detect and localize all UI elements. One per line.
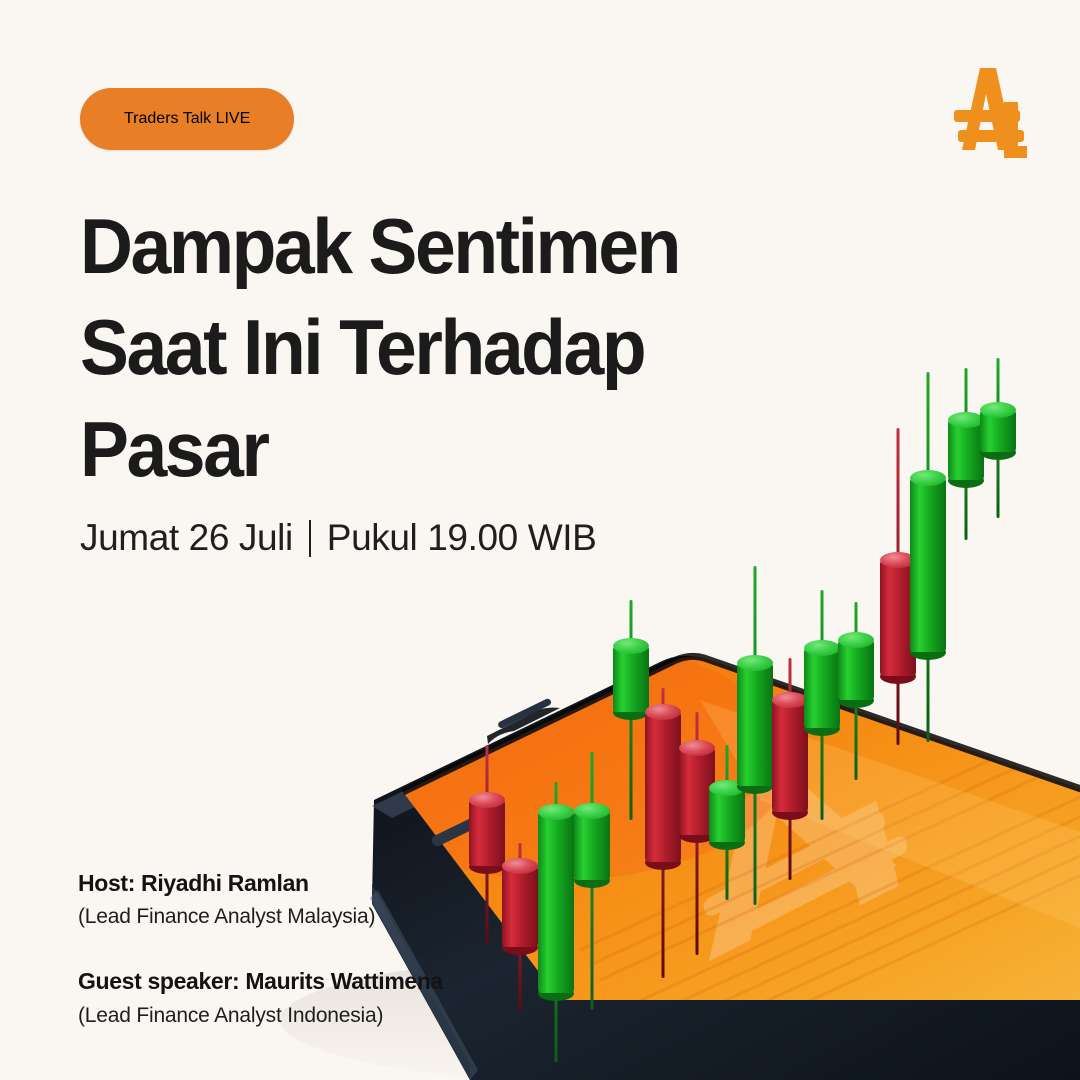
- headline-line-2: Saat Ini Terhadap: [80, 297, 794, 398]
- candlestick-body: [613, 646, 649, 712]
- candlestick-body: [645, 712, 681, 862]
- event-schedule: Jumat 26 Juli Pukul 19.00 WIB: [80, 517, 596, 559]
- guest-credit: Guest speaker: Maurits Wattimena (Lead F…: [78, 966, 598, 1030]
- candlestick-14: [910, 372, 946, 742]
- speaker-credits: Host: Riyadhi Ramlan (Lead Finance Analy…: [78, 868, 598, 1031]
- candlestick-12: [838, 602, 874, 780]
- candlestick-body: [948, 420, 984, 480]
- brand-a-monogram-icon: [928, 58, 1040, 168]
- host-name: Host: Riyadhi Ramlan: [78, 868, 598, 899]
- candlestick-16: [980, 358, 1016, 518]
- candlestick-body: [910, 478, 946, 652]
- headline-line-1: Dampak Sentimen: [80, 196, 794, 297]
- page-title: Dampak Sentimen Saat Ini Terhadap Pasar: [80, 196, 840, 500]
- candlestick-cap: [804, 640, 840, 656]
- candlestick-cap: [613, 638, 649, 654]
- candlestick-body: [737, 663, 773, 786]
- candlestick-9: [737, 566, 773, 905]
- host-role: (Lead Finance Analyst Malaysia): [78, 902, 598, 932]
- candlestick-15: [948, 368, 984, 540]
- candlestick-6: [645, 688, 681, 978]
- candlestick-body: [469, 800, 505, 866]
- candlestick-cap: [980, 402, 1016, 418]
- candlestick-11: [804, 590, 840, 820]
- event-time: Pukul 19.00 WIB: [327, 517, 597, 559]
- candlestick-cap: [910, 470, 946, 486]
- candlestick-cap: [737, 655, 773, 671]
- candlestick-body: [804, 648, 840, 728]
- candlestick-cap: [948, 412, 984, 428]
- candlestick-cap: [772, 692, 808, 708]
- headline-line-3: Pasar: [80, 399, 794, 500]
- host-credit: Host: Riyadhi Ramlan (Lead Finance Analy…: [78, 868, 598, 932]
- schedule-separator: [309, 520, 311, 557]
- candlestick-5: [613, 600, 649, 820]
- candlestick-cap: [838, 632, 874, 648]
- promo-poster: Traders Talk LIVE Dampak Sentimen Saat I…: [0, 0, 1080, 1080]
- guest-role: (Lead Finance Analyst Indonesia): [78, 1001, 598, 1031]
- candlestick-10: [772, 658, 808, 880]
- live-badge[interactable]: Traders Talk LIVE: [80, 88, 294, 150]
- candlestick-body: [772, 700, 808, 812]
- event-date: Jumat 26 Juli: [80, 517, 293, 559]
- candlestick-cap: [645, 704, 681, 720]
- live-badge-label: Traders Talk LIVE: [124, 110, 250, 128]
- guest-name: Guest speaker: Maurits Wattimena: [78, 966, 598, 997]
- candlestick-cap: [574, 803, 610, 819]
- candlestick-cap: [538, 804, 574, 820]
- candlestick-body: [838, 640, 874, 700]
- candlestick-cap: [469, 792, 505, 808]
